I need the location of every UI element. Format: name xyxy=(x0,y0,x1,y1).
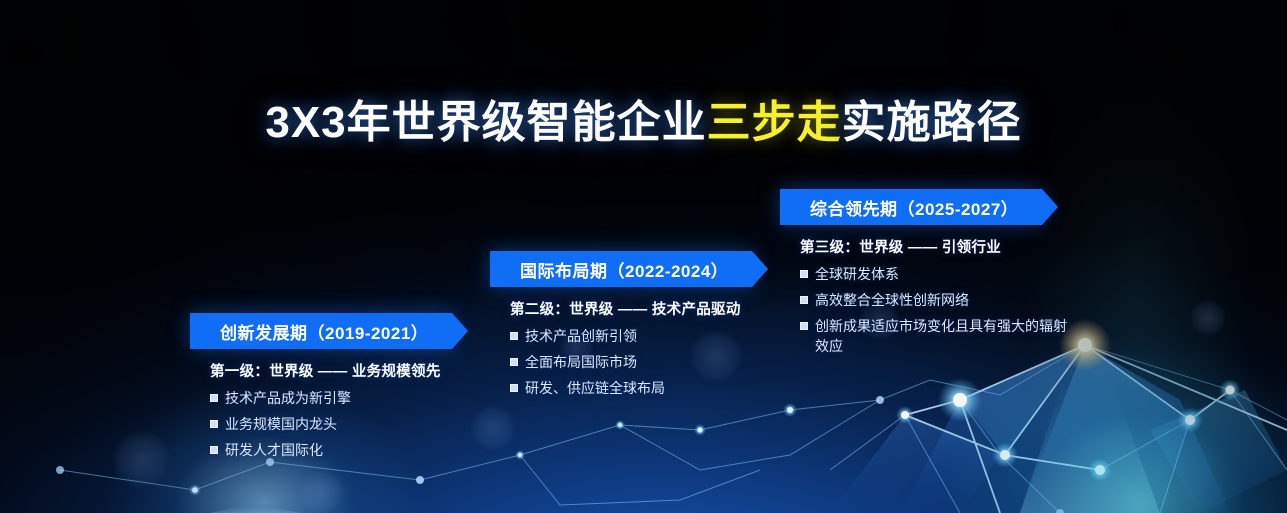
bullet-text: 创新成果适应市场变化且具有强大的辐射效应 xyxy=(815,317,1070,357)
list-item: 技术产品创新引领 xyxy=(510,327,752,347)
phase-banner-label-1: 创新发展期（2019-2021） xyxy=(190,319,428,344)
phase-banner-2[interactable]: 国际布局期（2022-2024） xyxy=(490,251,752,287)
list-item: 技术产品成为新引擎 xyxy=(210,389,452,409)
bokeh-dot xyxy=(470,405,516,451)
bullet-text: 业务规模国内龙头 xyxy=(225,415,337,435)
slide-canvas: 3X3年世界级智能企业三步走实施路径 创新发展期（2019-2021） 第一级：… xyxy=(0,0,1287,513)
bullet-text: 技术产品成为新引擎 xyxy=(225,389,351,409)
phase-block-2: 国际布局期（2022-2024） 第二级：世界级 —— 技术产品驱动 技术产品创… xyxy=(490,251,752,405)
square-bullet-icon xyxy=(210,446,218,454)
phase-bullets-1: 技术产品成为新引擎 业务规模国内龙头 研发人才国际化 xyxy=(190,389,452,461)
bullet-text: 高效整合全球性创新网络 xyxy=(815,291,969,311)
square-bullet-icon xyxy=(800,270,808,278)
bokeh-dot xyxy=(300,470,344,513)
phase-bullets-3: 全球研发体系 高效整合全球性创新网络 创新成果适应市场变化且具有强大的辐射效应 xyxy=(780,265,1070,357)
list-item: 研发人才国际化 xyxy=(210,441,452,461)
list-item: 高效整合全球性创新网络 xyxy=(800,291,1070,311)
square-bullet-icon xyxy=(510,358,518,366)
phase-subtitle-2: 第二级：世界级 —— 技术产品驱动 xyxy=(490,298,752,319)
bullet-text: 全面布局国际市场 xyxy=(525,353,637,373)
bokeh-dot xyxy=(1190,300,1226,336)
phase-banner-3[interactable]: 综合领先期（2025-2027） xyxy=(780,189,1042,225)
bullet-text: 研发人才国际化 xyxy=(225,441,323,461)
title-suffix: 实施路径 xyxy=(842,98,1022,147)
square-bullet-icon xyxy=(510,384,518,392)
bullet-text: 研发、供应链全球布局 xyxy=(525,379,665,399)
bullet-text: 技术产品创新引领 xyxy=(525,327,637,347)
square-bullet-icon xyxy=(510,332,518,340)
phase-banner-label-3: 综合领先期（2025-2027） xyxy=(780,195,1018,220)
list-item: 创新成果适应市场变化且具有强大的辐射效应 xyxy=(800,317,1070,357)
list-item: 业务规模国内龙头 xyxy=(210,415,452,435)
phase-block-3: 综合领先期（2025-2027） 第三级：世界级 —— 引领行业 全球研发体系 … xyxy=(780,189,1070,363)
square-bullet-icon xyxy=(210,394,218,402)
square-bullet-icon xyxy=(800,322,808,330)
phase-block-1: 创新发展期（2019-2021） 第一级：世界级 —— 业务规模领先 技术产品成… xyxy=(190,313,452,467)
square-bullet-icon xyxy=(800,296,808,304)
title-prefix: 3X3年世界级智能企业 xyxy=(265,98,706,147)
phase-bullets-2: 技术产品创新引领 全面布局国际市场 研发、供应链全球布局 xyxy=(490,327,752,399)
phase-subtitle-3: 第三级：世界级 —— 引领行业 xyxy=(780,236,1070,257)
square-bullet-icon xyxy=(210,420,218,428)
bullet-text: 全球研发体系 xyxy=(815,265,899,285)
phase-subtitle-1: 第一级：世界级 —— 业务规模领先 xyxy=(190,360,452,381)
list-item: 研发、供应链全球布局 xyxy=(510,379,752,399)
list-item: 全面布局国际市场 xyxy=(510,353,752,373)
title-highlight: 三步走 xyxy=(707,98,842,147)
list-item: 全球研发体系 xyxy=(800,265,1070,285)
page-title: 3X3年世界级智能企业三步走实施路径 xyxy=(0,86,1287,150)
phase-banner-label-2: 国际布局期（2022-2024） xyxy=(490,257,728,282)
phase-banner-1[interactable]: 创新发展期（2019-2021） xyxy=(190,313,452,349)
bokeh-dot xyxy=(112,430,170,488)
